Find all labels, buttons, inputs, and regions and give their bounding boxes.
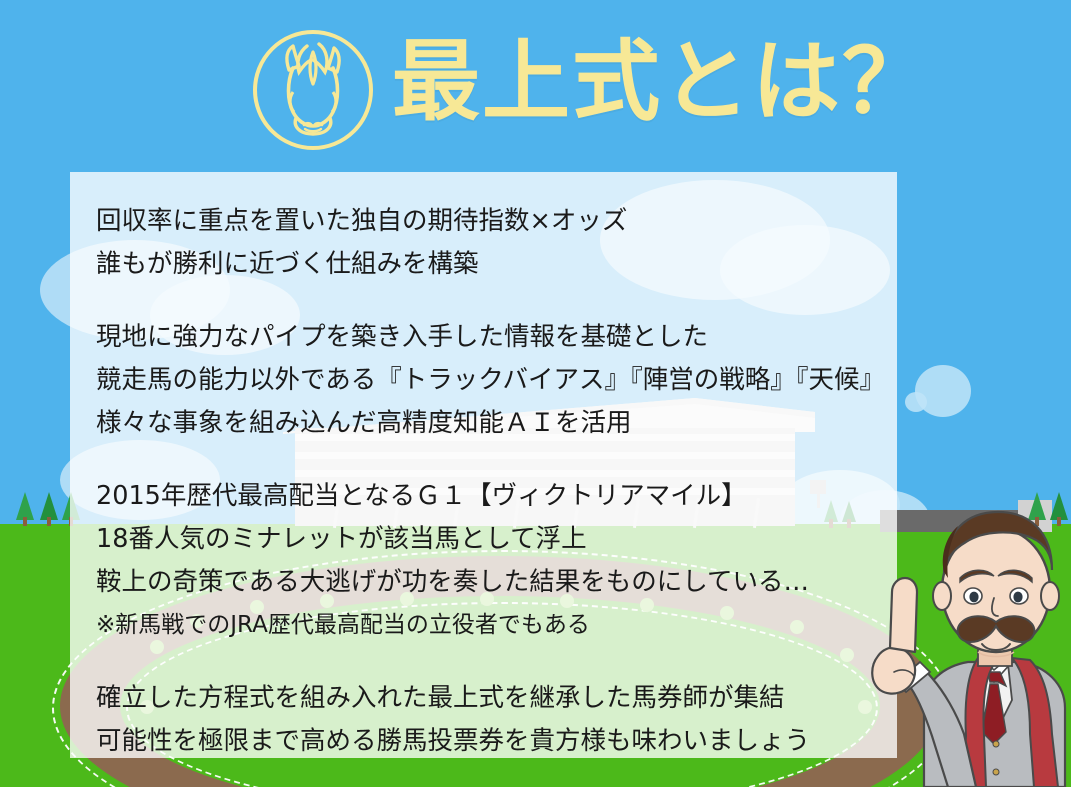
text-line: 回収率に重点を置いた独自の期待指数×オッズ — [96, 200, 877, 243]
paragraph-block: 2015年歴代最高配当となるＧ１【ヴィクトリアマイル】 18番人気のミナレットが… — [96, 475, 877, 647]
poster-root: 最上式とは？ 回収率に重点を置いた独自の期待指数×オッズ 誰もが勝利に近づく仕組… — [0, 0, 1071, 787]
text-line: 誰もが勝利に近づく仕組みを構築 — [96, 243, 877, 286]
paragraph-block: 回収率に重点を置いた独自の期待指数×オッズ 誰もが勝利に近づく仕組みを構築 — [96, 200, 877, 286]
content-panel: 回収率に重点を置いた独自の期待指数×オッズ 誰もが勝利に近づく仕組みを構築 現地… — [70, 172, 897, 758]
horse-head-logo — [249, 26, 377, 154]
text-line: 鞍上の奇策である大逃げが功を奏した結果をものにしている… — [96, 561, 877, 604]
paragraph-block: 確立した方程式を組み入れた最上式を継承した馬券師が集結 可能性を極限まで高める勝… — [96, 677, 877, 763]
text-line: 現地に強力なパイプを築き入手した情報を基礎とした — [96, 316, 877, 359]
mustached-gentleman-character — [860, 486, 1071, 787]
text-line: 確立した方程式を組み入れた最上式を継承した馬券師が集結 — [96, 677, 877, 720]
text-line: ※新馬戦でのJRA歴代最高配当の立役者でもある — [96, 604, 877, 647]
tree-icon — [38, 492, 60, 526]
text-line: 競走馬の能力以外である『トラックバイアス』『陣営の戦略』『天候』 — [96, 359, 877, 402]
header: 最上式とは？ — [0, 0, 1071, 172]
text-line: 可能性を極限まで高める勝馬投票券を貴方様も味わいましょう — [96, 720, 877, 763]
text-line: 2015年歴代最高配当となるＧ１【ヴィクトリアマイル】 — [96, 475, 877, 518]
page-title: 最上式とは？ — [392, 22, 932, 142]
tree-icon — [14, 490, 36, 526]
paragraph-block: 現地に強力なパイプを築き入手した情報を基礎とした 競走馬の能力以外である『トラッ… — [96, 316, 877, 445]
cloud-icon — [905, 392, 927, 412]
text-line: 18番人気のミナレットが該当馬として浮上 — [96, 518, 877, 561]
text-line: 様々な事象を組み込んだ高精度知能ＡＩを活用 — [96, 402, 877, 445]
